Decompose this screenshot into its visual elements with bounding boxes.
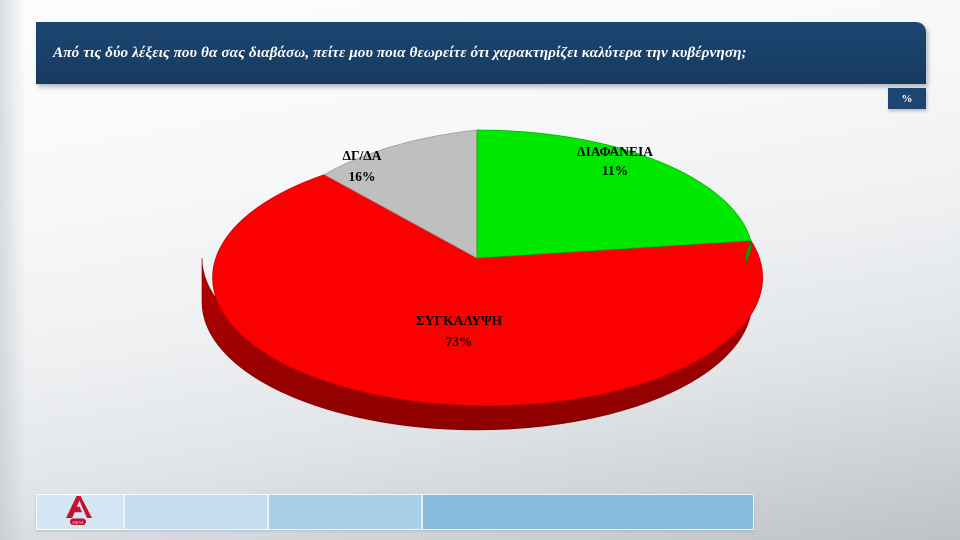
slide-canvas: Από τις δύο λέξεις που θα σας διαβάσω, π… bbox=[0, 0, 960, 540]
pie-label-diafaneia-value: 11% bbox=[602, 163, 628, 178]
page-title: Από τις δύο λέξεις που θα σας διαβάσω, π… bbox=[36, 44, 759, 62]
alpha-news-logo-icon: alpha bbox=[63, 495, 93, 527]
footer-box-3 bbox=[268, 494, 422, 530]
pie-chart: ΔΙΑΦΑΝΕΙΑ 11% ΔΓ/ΔΑ 16% ΣΥΓΚΑΛΥΨΗ 73% bbox=[180, 112, 800, 462]
pie-label-dgda-name: ΔΓ/ΔΑ bbox=[342, 148, 381, 163]
pie-chart-svg: ΔΙΑΦΑΝΕΙΑ 11% ΔΓ/ΔΑ 16% ΣΥΓΚΑΛΥΨΗ 73% bbox=[180, 112, 800, 462]
pie-label-sygkalypsi-value: 73% bbox=[446, 334, 473, 349]
footer-box-2 bbox=[124, 494, 268, 530]
footer-box-4 bbox=[422, 494, 754, 530]
unit-badge: % bbox=[888, 88, 926, 109]
footer-bar: alpha ΣΕΔΕΑ alco The pulse of society bbox=[0, 480, 960, 540]
pie-label-dgda-value: 16% bbox=[349, 169, 376, 184]
unit-badge-label: % bbox=[902, 93, 913, 105]
title-banner: Από τις δύο λέξεις που θα σας διαβάσω, π… bbox=[36, 22, 926, 84]
svg-text:alpha: alpha bbox=[72, 519, 84, 524]
pie-label-sygkalypsi-name: ΣΥΓΚΑΛΥΨΗ bbox=[416, 313, 503, 328]
pie-label-diafaneia-name: ΔΙΑΦΑΝΕΙΑ bbox=[577, 144, 653, 159]
